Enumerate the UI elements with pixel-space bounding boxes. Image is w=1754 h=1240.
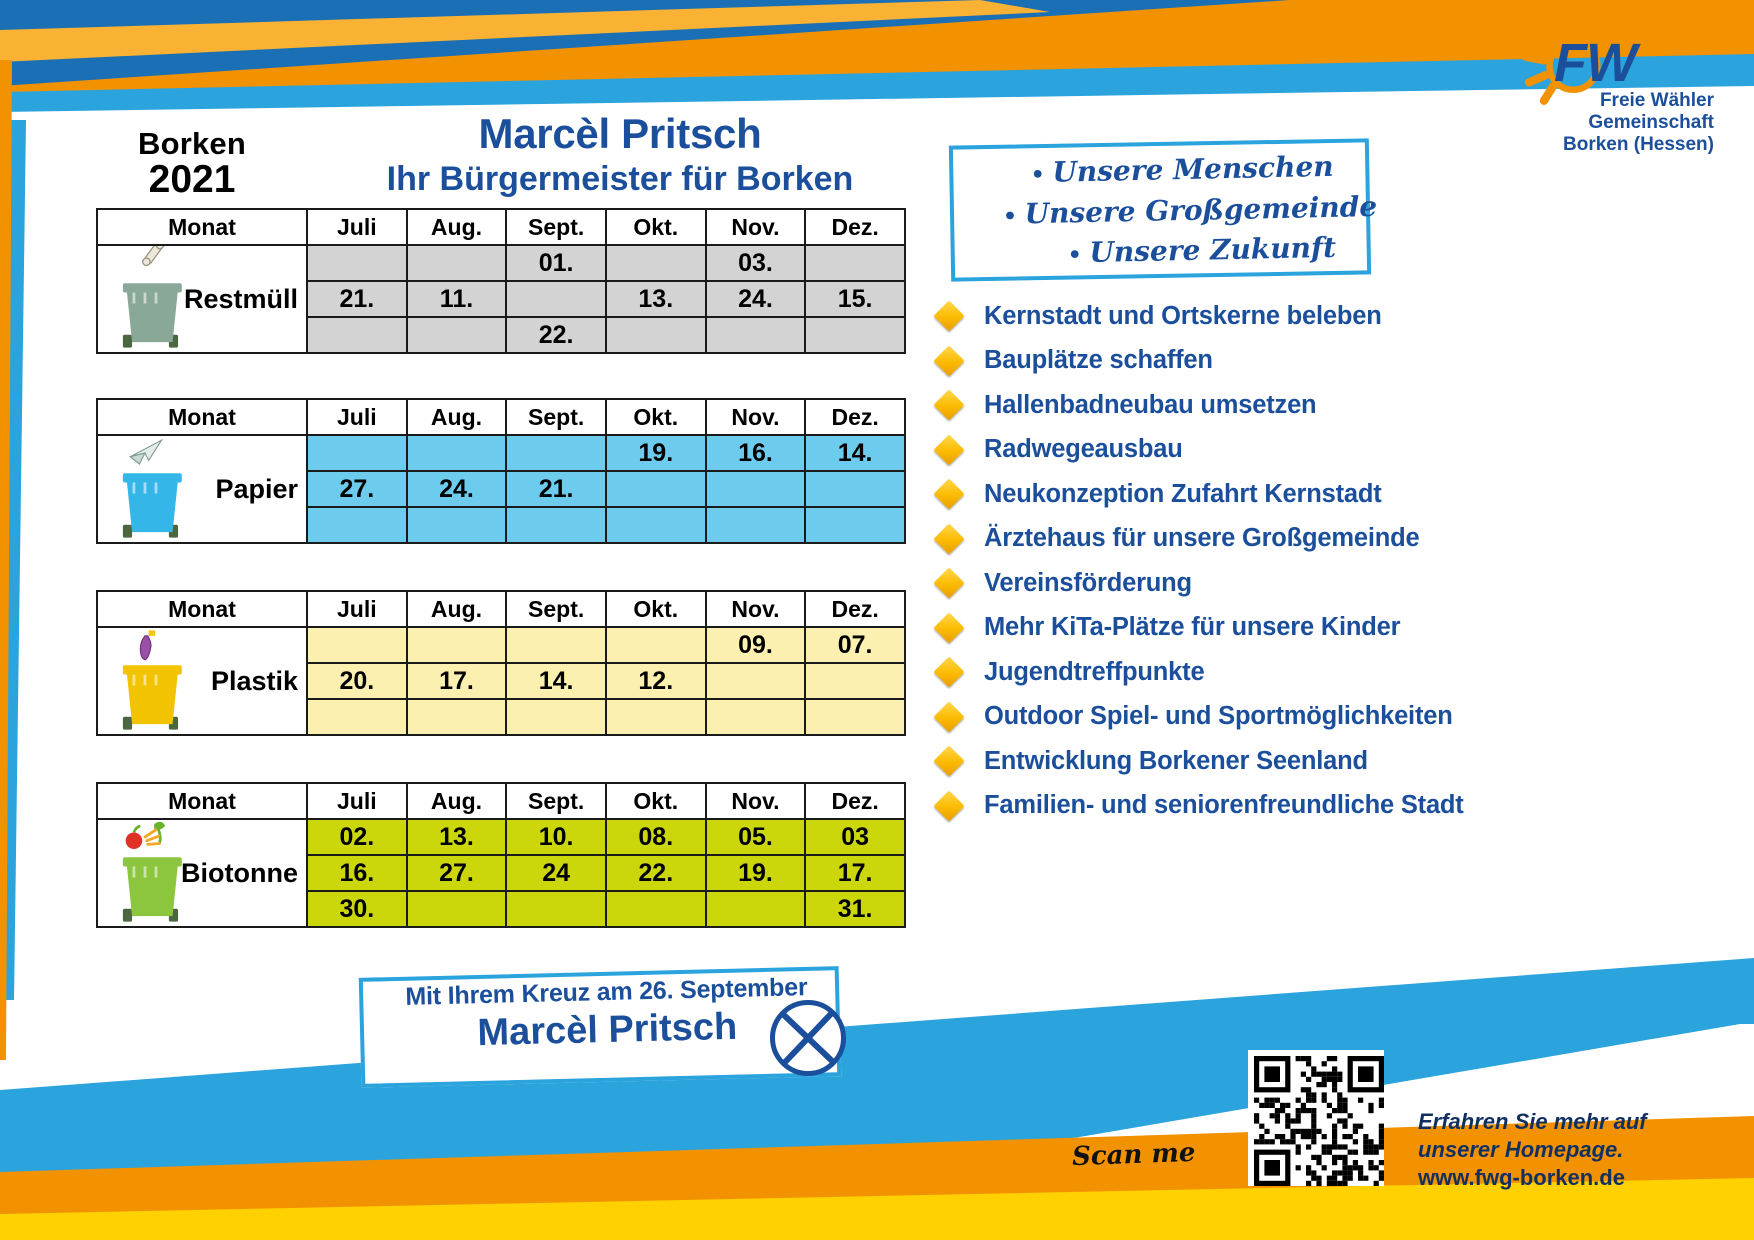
collection-date-cell: 09. — [706, 627, 806, 663]
collection-date-cell — [506, 507, 606, 543]
column-header-month: Okt. — [606, 399, 706, 435]
logo-mark: FW — [1554, 32, 1636, 94]
collection-date-cell: 24 — [506, 855, 606, 891]
diamond-bullet-icon — [933, 478, 964, 509]
collection-date-cell — [307, 507, 407, 543]
collection-date-cell — [506, 627, 606, 663]
collection-date-cell — [706, 317, 806, 353]
collection-date-cell — [407, 245, 507, 281]
list-item: Ärztehaus für unsere Großgemeinde — [938, 523, 1728, 555]
column-header-month: Aug. — [407, 591, 507, 627]
waste-type-label: Papier — [215, 474, 298, 504]
list-item-label: Outdoor Spiel- und Sportmöglichkeiten — [984, 702, 1453, 731]
collection-date-cell: 14. — [506, 663, 606, 699]
list-item: Bauplätze schaffen — [938, 345, 1728, 377]
diamond-bullet-icon — [933, 790, 964, 821]
collection-date-cell — [706, 507, 806, 543]
collection-date-cell: 16. — [307, 855, 407, 891]
candidate-subtitle: Ihr Bürgermeister für Borken — [300, 160, 940, 199]
restmuell-bin-icon — [110, 246, 202, 350]
column-header-monat: Monat — [97, 783, 307, 819]
diamond-bullet-icon — [933, 745, 964, 776]
list-item: Neukonzeption Zufahrt Kernstadt — [938, 478, 1728, 510]
column-header-month: Nov. — [706, 591, 806, 627]
list-item-label: Mehr KiTa-Plätze für unsere Kinder — [984, 613, 1400, 642]
flyer-page: Borken 2021 Marcèl Pritsch Ihr Bürgermei… — [0, 0, 1754, 1240]
list-item: Outdoor Spiel- und Sportmöglichkeiten — [938, 701, 1728, 733]
collection-date-cell — [407, 891, 507, 927]
collection-date-cell — [606, 507, 706, 543]
column-header-month: Juli — [307, 209, 407, 245]
collection-date-cell — [307, 435, 407, 471]
collection-date-cell — [606, 699, 706, 735]
collection-date-cell — [506, 435, 606, 471]
homepage-url: www.fwg-borken.de — [1418, 1164, 1738, 1192]
collection-date-cell — [805, 245, 905, 281]
column-header-monat: Monat — [97, 591, 307, 627]
ribbon-top-dark-blue — [0, 0, 1400, 110]
collection-date-cell: 24. — [706, 281, 806, 317]
column-header-month: Sept. — [506, 399, 606, 435]
waste-schedule-table: MonatJuliAug.Sept.Okt.Nov.Dez.Biotonne02… — [96, 782, 906, 928]
calendar-table-restmuell: MonatJuliAug.Sept.Okt.Nov.Dez.Restmüll01… — [96, 208, 906, 354]
collection-date-cell: 11. — [407, 281, 507, 317]
diamond-bullet-icon — [933, 567, 964, 598]
collection-date-cell — [606, 891, 706, 927]
collection-date-cell: 12. — [606, 663, 706, 699]
collection-date-cell: 20. — [307, 663, 407, 699]
column-header-month: Juli — [307, 591, 407, 627]
collection-date-cell: 02. — [307, 819, 407, 855]
table-row: Papier19.16.14. — [97, 435, 905, 471]
collection-date-cell — [506, 891, 606, 927]
collection-date-cell — [307, 317, 407, 353]
ribbon-top-orange — [0, 0, 1754, 120]
collection-date-cell: 19. — [606, 435, 706, 471]
collection-date-cell — [805, 471, 905, 507]
collection-date-cell — [407, 627, 507, 663]
collection-date-cell — [706, 891, 806, 927]
collection-date-cell — [805, 507, 905, 543]
column-header-month: Aug. — [407, 783, 507, 819]
papier-bin-icon — [110, 436, 202, 540]
table-row: Biotonne02.13.10.08.05.03 — [97, 819, 905, 855]
ribbon-left-blue — [0, 120, 40, 1000]
list-item: Hallenbadneubau umsetzen — [938, 389, 1728, 421]
collection-date-cell — [307, 627, 407, 663]
logo-line-2: Gemeinschaft — [1504, 112, 1714, 134]
waste-type-cell: Plastik — [97, 627, 307, 735]
collection-date-cell: 05. — [706, 819, 806, 855]
waste-type-cell: Papier — [97, 435, 307, 543]
diamond-bullet-icon — [933, 523, 964, 554]
table-row: Restmüll01.03. — [97, 245, 905, 281]
column-header-month: Dez. — [805, 591, 905, 627]
column-header-month: Aug. — [407, 209, 507, 245]
qr-code-icon[interactable] — [1248, 1050, 1384, 1186]
list-item-label: Bauplätze schaffen — [984, 346, 1213, 375]
column-header-month: Nov. — [706, 783, 806, 819]
column-header-month: Juli — [307, 399, 407, 435]
city-label: Borken — [138, 126, 246, 162]
collection-date-cell — [307, 245, 407, 281]
collection-date-cell — [407, 435, 507, 471]
column-header-month: Okt. — [606, 783, 706, 819]
list-item: Kernstadt und Ortskerne beleben — [938, 300, 1728, 332]
column-header-month: Juli — [307, 783, 407, 819]
list-item-label: Kernstadt und Ortskerne beleben — [984, 302, 1382, 331]
collection-date-cell — [506, 699, 606, 735]
collection-date-cell: 22. — [506, 317, 606, 353]
column-header-month: Nov. — [706, 399, 806, 435]
diamond-bullet-icon — [933, 612, 964, 643]
city-year-block: Borken 2021 — [138, 126, 246, 202]
collection-date-cell: 19. — [706, 855, 806, 891]
year-label: 2021 — [138, 158, 246, 202]
waste-schedule-table: MonatJuliAug.Sept.Okt.Nov.Dez.Papier19.1… — [96, 398, 906, 544]
diamond-bullet-icon — [933, 656, 964, 687]
logo-line-3: Borken (Hessen) — [1504, 134, 1714, 156]
collection-date-cell: 24. — [407, 471, 507, 507]
column-header-month: Aug. — [407, 399, 507, 435]
waste-schedule-table: MonatJuliAug.Sept.Okt.Nov.Dez.Restmüll01… — [96, 208, 906, 354]
programme-list: Kernstadt und Ortskerne belebenBauplätze… — [938, 300, 1728, 834]
waste-schedule-table: MonatJuliAug.Sept.Okt.Nov.Dez.Plastik09.… — [96, 590, 906, 736]
list-item: Radwegeausbau — [938, 434, 1728, 466]
calendar-table-biotonne: MonatJuliAug.Sept.Okt.Nov.Dez.Biotonne02… — [96, 782, 906, 928]
table-row: Plastik09.07. — [97, 627, 905, 663]
list-item: Mehr KiTa-Plätze für unsere Kinder — [938, 612, 1728, 644]
list-item-label: Ärztehaus für unsere Großgemeinde — [984, 524, 1420, 553]
collection-date-cell — [606, 245, 706, 281]
collection-date-cell — [407, 317, 507, 353]
column-header-month: Okt. — [606, 591, 706, 627]
collection-date-cell: 13. — [606, 281, 706, 317]
collection-date-cell: 03 — [805, 819, 905, 855]
column-header-month: Sept. — [506, 209, 606, 245]
collection-date-cell: 30. — [307, 891, 407, 927]
collection-date-cell: 01. — [506, 245, 606, 281]
diamond-bullet-icon — [933, 434, 964, 465]
collection-date-cell: 10. — [506, 819, 606, 855]
collection-date-cell: 13. — [407, 819, 507, 855]
collection-date-cell: 27. — [307, 471, 407, 507]
list-item: Familien- und seniorenfreundliche Stadt — [938, 790, 1728, 822]
collection-date-cell: 07. — [805, 627, 905, 663]
diamond-bullet-icon — [933, 389, 964, 420]
diamond-bullet-icon — [933, 701, 964, 732]
collection-date-cell: 22. — [606, 855, 706, 891]
collection-date-cell: 31. — [805, 891, 905, 927]
column-header-month: Dez. — [805, 209, 905, 245]
column-header-month: Okt. — [606, 209, 706, 245]
collection-date-cell — [307, 699, 407, 735]
list-item: Entwicklung Borkener Seenland — [938, 745, 1728, 777]
collection-date-cell — [506, 281, 606, 317]
collection-date-cell — [706, 663, 806, 699]
collection-date-cell: 17. — [805, 855, 905, 891]
ribbon-left-orange — [0, 60, 22, 1060]
list-item-label: Radwegeausbau — [984, 435, 1183, 464]
list-item: Jugendtreffpunkte — [938, 656, 1728, 688]
column-header-monat: Monat — [97, 399, 307, 435]
homepage-line-2: unserer Homepage. — [1418, 1136, 1738, 1164]
column-header-monat: Monat — [97, 209, 307, 245]
list-item-label: Familien- und seniorenfreundliche Stadt — [984, 791, 1464, 820]
collection-date-cell — [407, 699, 507, 735]
column-header-month: Sept. — [506, 783, 606, 819]
biotonne-bin-icon — [110, 820, 202, 924]
list-item: Vereinsförderung — [938, 567, 1728, 599]
list-item-label: Jugendtreffpunkte — [984, 658, 1204, 687]
collection-date-cell — [805, 663, 905, 699]
collection-date-cell — [805, 699, 905, 735]
scan-me-label: Scan me — [1072, 1138, 1196, 1172]
page-title: Marcèl Pritsch Ihr Bürgermeister für Bor… — [300, 110, 940, 199]
logo-line-1: Freie Wähler — [1504, 90, 1714, 112]
list-item-label: Neukonzeption Zufahrt Kernstadt — [984, 480, 1382, 509]
column-header-month: Dez. — [805, 783, 905, 819]
collection-date-cell: 21. — [506, 471, 606, 507]
collection-date-cell: 08. — [606, 819, 706, 855]
waste-type-cell: Biotonne — [97, 819, 307, 927]
column-header-month: Dez. — [805, 399, 905, 435]
homepage-info: Erfahren Sie mehr auf unserer Homepage. … — [1418, 1108, 1738, 1192]
column-header-month: Sept. — [506, 591, 606, 627]
collection-date-cell: 03. — [706, 245, 806, 281]
slogan-list: Unsere Menschen Unsere Großgemeinde Unse… — [967, 146, 1399, 277]
collection-date-cell: 21. — [307, 281, 407, 317]
collection-date-cell — [606, 627, 706, 663]
list-item-label: Vereinsförderung — [984, 569, 1192, 598]
ribbon-top-orange-accent — [0, 0, 1100, 80]
diamond-bullet-icon — [933, 300, 964, 331]
collection-date-cell — [706, 471, 806, 507]
collection-date-cell — [706, 699, 806, 735]
waste-type-label: Plastik — [211, 666, 298, 696]
collection-date-cell — [606, 471, 706, 507]
collection-date-cell: 17. — [407, 663, 507, 699]
collection-date-cell — [606, 317, 706, 353]
collection-date-cell: 27. — [407, 855, 507, 891]
collection-date-cell: 15. — [805, 281, 905, 317]
plastik-bin-icon — [110, 628, 202, 732]
collection-date-cell — [407, 507, 507, 543]
collection-date-cell: 14. — [805, 435, 905, 471]
list-item-label: Entwicklung Borkener Seenland — [984, 747, 1368, 776]
list-item-label: Hallenbadneubau umsetzen — [984, 391, 1316, 420]
qr-code-icon[interactable] — [1254, 1056, 1384, 1186]
ribbon-bottom-blue — [0, 940, 1754, 1240]
calendar-table-papier: MonatJuliAug.Sept.Okt.Nov.Dez.Papier19.1… — [96, 398, 906, 544]
candidate-name: Marcèl Pritsch — [300, 110, 940, 158]
collection-date-cell: 16. — [706, 435, 806, 471]
diamond-bullet-icon — [933, 345, 964, 376]
waste-type-cell: Restmüll — [97, 245, 307, 353]
calendar-table-plastik: MonatJuliAug.Sept.Okt.Nov.Dez.Plastik09.… — [96, 590, 906, 736]
homepage-line-1: Erfahren Sie mehr auf — [1418, 1108, 1738, 1136]
fw-logo: FW Freie Wähler Gemeinschaft Borken (Hes… — [1498, 18, 1718, 188]
column-header-month: Nov. — [706, 209, 806, 245]
collection-date-cell — [805, 317, 905, 353]
